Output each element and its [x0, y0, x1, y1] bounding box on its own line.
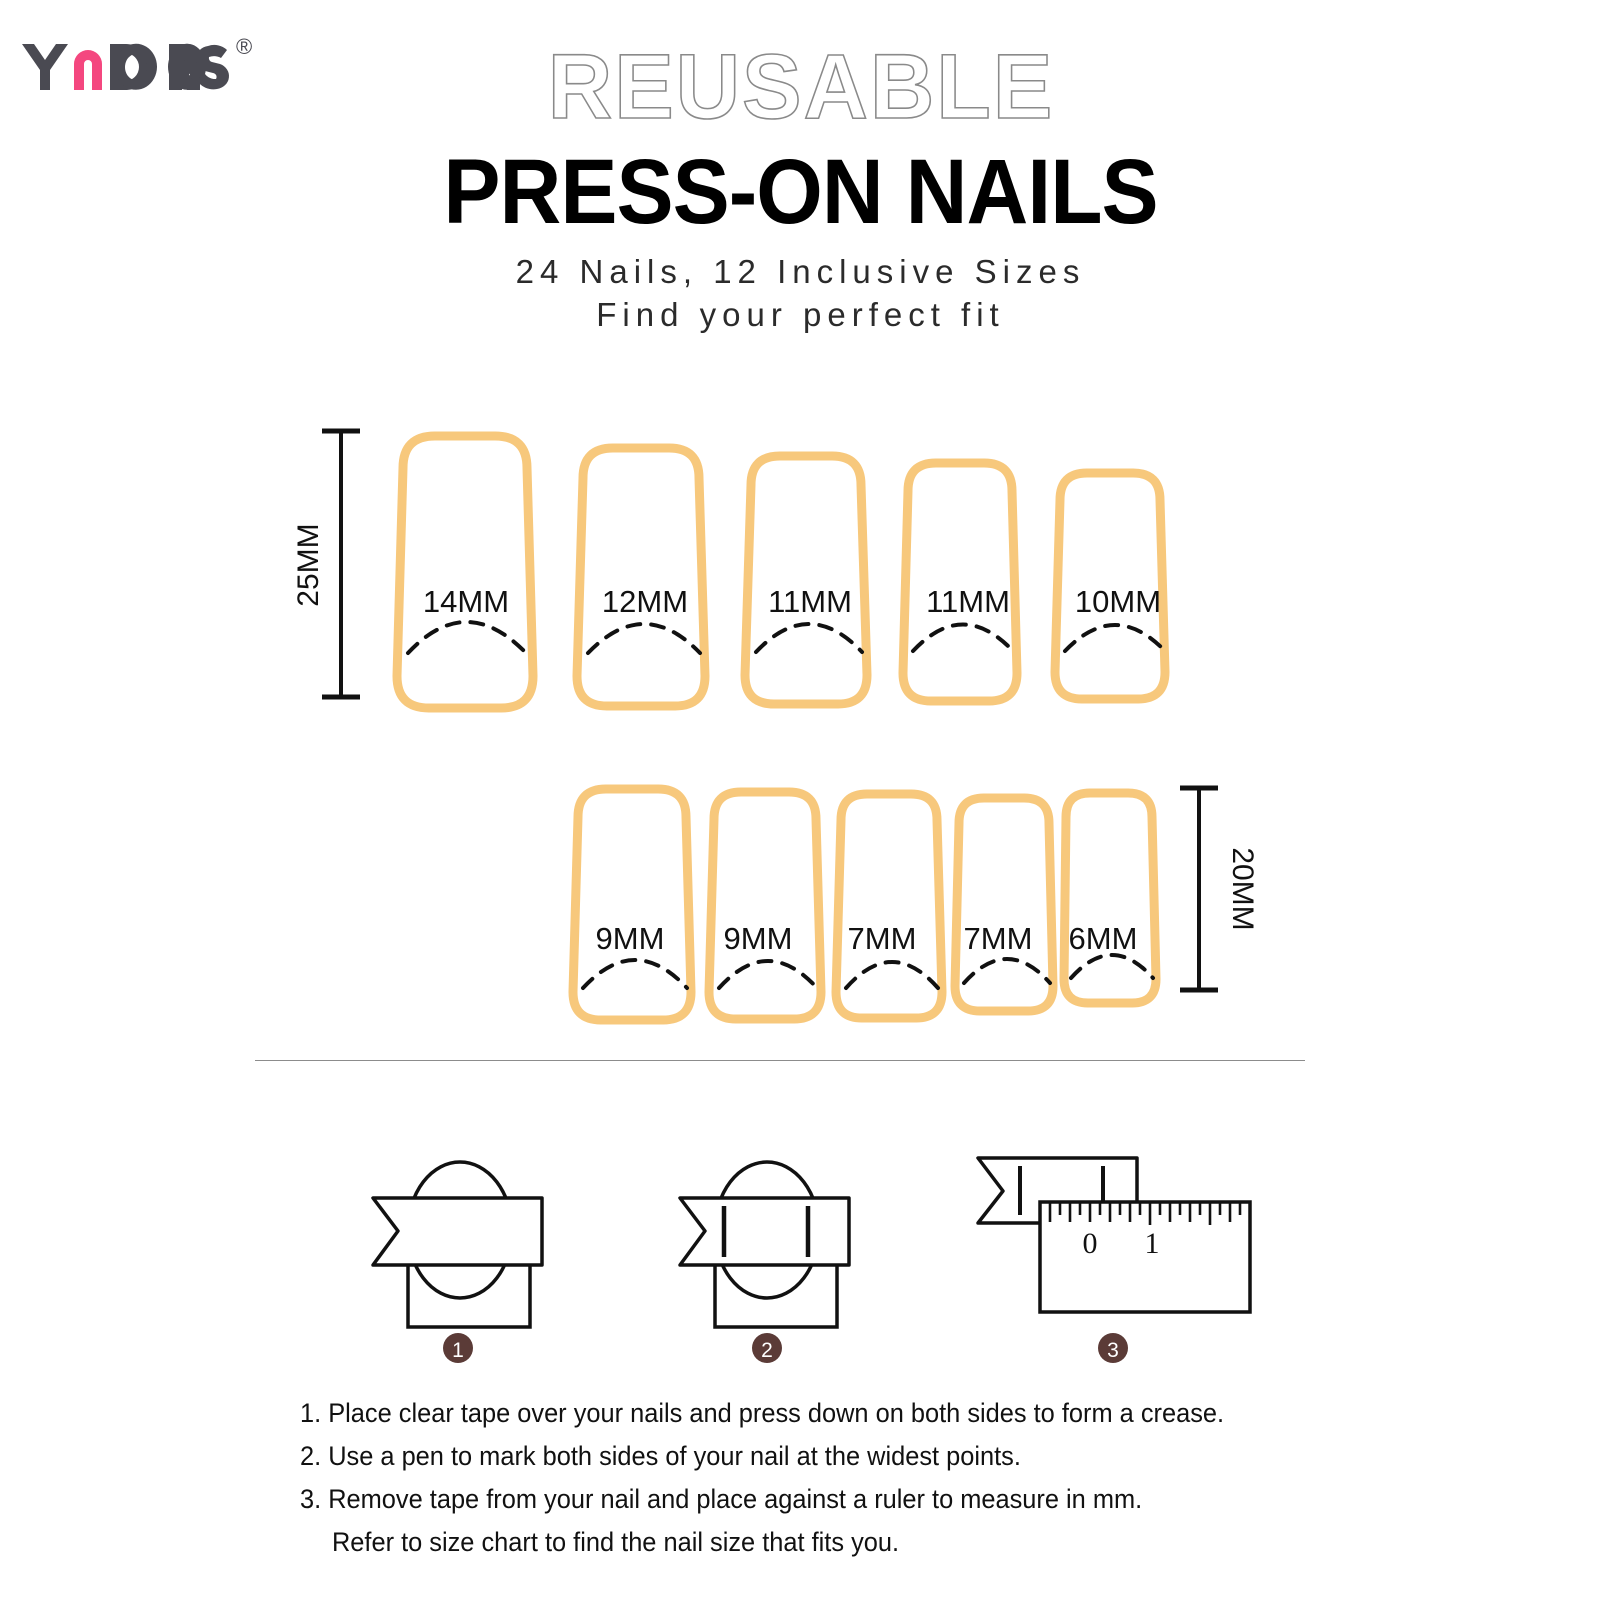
- step-1-diagram: 1: [373, 1162, 542, 1363]
- nail-row2-item1: 9MM: [573, 789, 691, 1020]
- step-badge-1-label: 1: [452, 1339, 464, 1362]
- eyebrow-heading-outline: REUSABLE: [471, 44, 1131, 136]
- nail-size-label: 9MM: [724, 921, 793, 956]
- subtitle-line-1: 24 Nails, 12 Inclusive Sizes: [0, 255, 1601, 288]
- nail-size-label: 12MM: [602, 584, 688, 619]
- nail-size-label: 11MM: [926, 584, 1010, 619]
- instruction-line-1: 1. Place clear tape over your nails and …: [300, 1392, 1278, 1435]
- nail-size-label: 10MM: [1075, 584, 1161, 619]
- nail-size-chart: 25MM 14MM 12MM 11MM 11MM 10MM 9MM 9M: [0, 400, 1601, 1040]
- nail-row1-item3: 11MM: [745, 456, 867, 704]
- step-2-diagram: 2: [680, 1162, 849, 1363]
- nail-row2-item5: 6MM: [1064, 793, 1156, 1003]
- section-divider: [255, 1060, 1305, 1061]
- measurement-steps-diagrams: 1 2: [0, 1105, 1601, 1375]
- eyebrow-heading-text: REUSABLE: [547, 44, 1053, 136]
- dimension-bracket-20mm: 20MM: [1180, 788, 1259, 990]
- step-badge-3-label: 3: [1107, 1339, 1119, 1362]
- instruction-line-2: 2. Use a pen to mark both sides of your …: [300, 1435, 1278, 1478]
- step-badge-2-label: 2: [761, 1339, 773, 1362]
- nail-row1-item2: 12MM: [577, 448, 705, 706]
- page-title: PRESS-ON NAILS: [56, 146, 1545, 238]
- nail-size-label: 14MM: [423, 584, 509, 619]
- nail-row2-item4: 7MM: [955, 798, 1053, 1011]
- nail-size-label: 9MM: [596, 921, 665, 956]
- ruler-label-1: 1: [1145, 1227, 1160, 1260]
- instructions-list: 1. Place clear tape over your nails and …: [300, 1392, 1278, 1564]
- dimension-label-20mm: 20MM: [1226, 847, 1259, 930]
- tape-strip: [373, 1198, 542, 1265]
- step-3-diagram: 0 1 3: [978, 1158, 1250, 1363]
- eyebrow-heading-container: REUSABLE: [0, 44, 1601, 141]
- dimension-bracket-25mm: 25MM: [292, 431, 360, 697]
- instruction-line-4: Refer to size chart to find the nail siz…: [300, 1521, 1278, 1564]
- nail-row1-item4: 11MM: [903, 463, 1017, 701]
- nail-size-label: 7MM: [848, 921, 917, 956]
- nail-size-label: 11MM: [768, 584, 852, 619]
- ruler-label-0: 0: [1083, 1227, 1098, 1260]
- nail-row1-item5: 10MM: [1055, 473, 1165, 699]
- nail-row2-item3: 7MM: [836, 794, 942, 1018]
- nail-size-label: 6MM: [1069, 921, 1138, 956]
- nail-size-label: 7MM: [964, 921, 1033, 956]
- subtitle-line-2: Find your perfect fit: [0, 298, 1601, 331]
- nail-row1-item1: 14MM: [397, 436, 533, 708]
- tape-strip: [680, 1198, 849, 1265]
- instruction-line-3: 3. Remove tape from your nail and place …: [300, 1478, 1278, 1521]
- dimension-label-25mm: 25MM: [292, 523, 325, 606]
- nail-row2-item2: 9MM: [709, 792, 821, 1019]
